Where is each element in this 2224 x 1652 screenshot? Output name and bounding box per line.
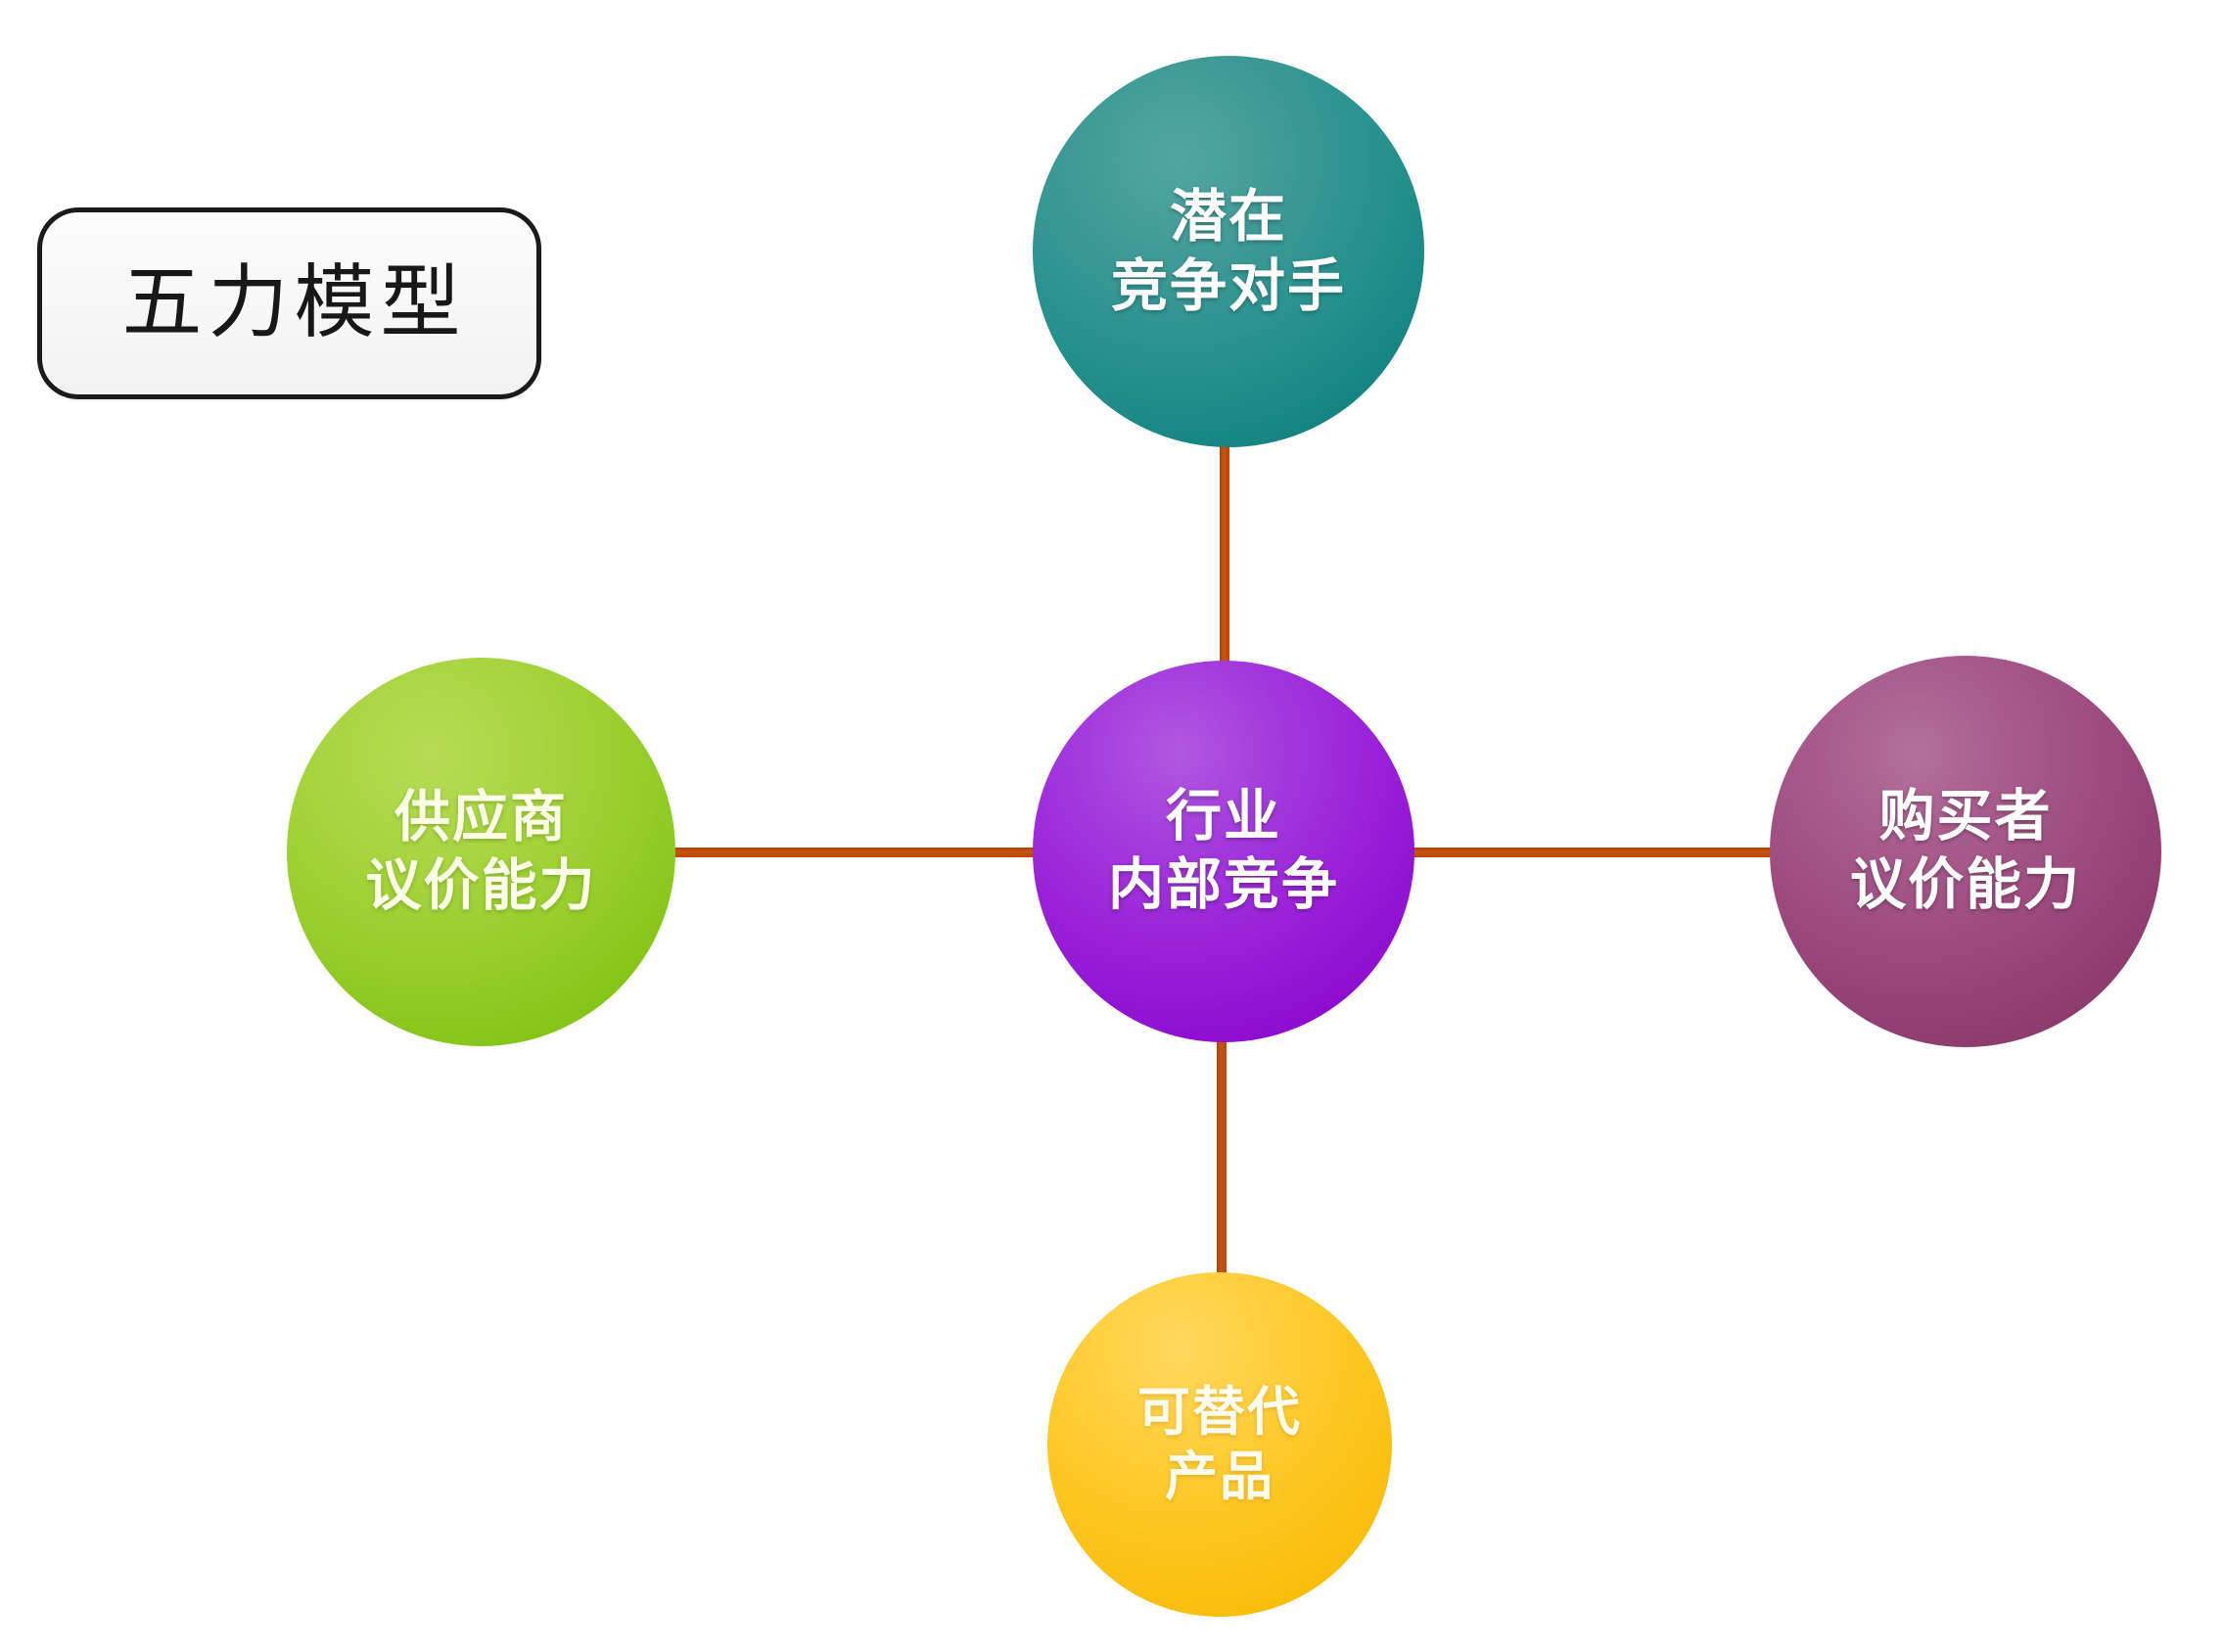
porter-five-forces-diagram: 五力模型 潜在 竞争对手 供应商 议价能力 行业 内部竞争 购买者 议价能力 可… (0, 0, 2224, 1652)
node-potential-entrants-line2: 竞争对手 (1111, 252, 1346, 321)
node-buyer-power-line1: 购买者 (1879, 783, 2053, 851)
node-supplier-power[interactable]: 供应商 议价能力 (287, 658, 675, 1046)
node-supplier-power-line2: 议价能力 (366, 852, 597, 921)
node-substitute-products-line2: 产品 (1165, 1445, 1274, 1509)
node-potential-entrants[interactable]: 潜在 竞争对手 (1033, 56, 1424, 447)
page-title: 五力模型 (112, 263, 466, 344)
node-substitute-products[interactable]: 可替代 产品 (1047, 1272, 1392, 1617)
node-industry-rivalry-line1: 行业 (1166, 783, 1281, 851)
node-industry-rivalry[interactable]: 行业 内部竞争 (1033, 661, 1414, 1042)
diagram-title-box: 五力模型 (37, 207, 541, 399)
node-buyer-power-line2: 议价能力 (1850, 851, 2081, 920)
node-supplier-power-line1: 供应商 (394, 784, 568, 852)
connector-center-to-right (1402, 848, 1788, 857)
node-industry-rivalry-line2: 内部竞争 (1108, 851, 1339, 920)
connector-center-to-left (658, 848, 1049, 857)
node-substitute-products-line1: 可替代 (1137, 1380, 1302, 1445)
node-buyer-power[interactable]: 购买者 议价能力 (1770, 656, 2161, 1047)
node-potential-entrants-line1: 潜在 (1170, 182, 1287, 252)
